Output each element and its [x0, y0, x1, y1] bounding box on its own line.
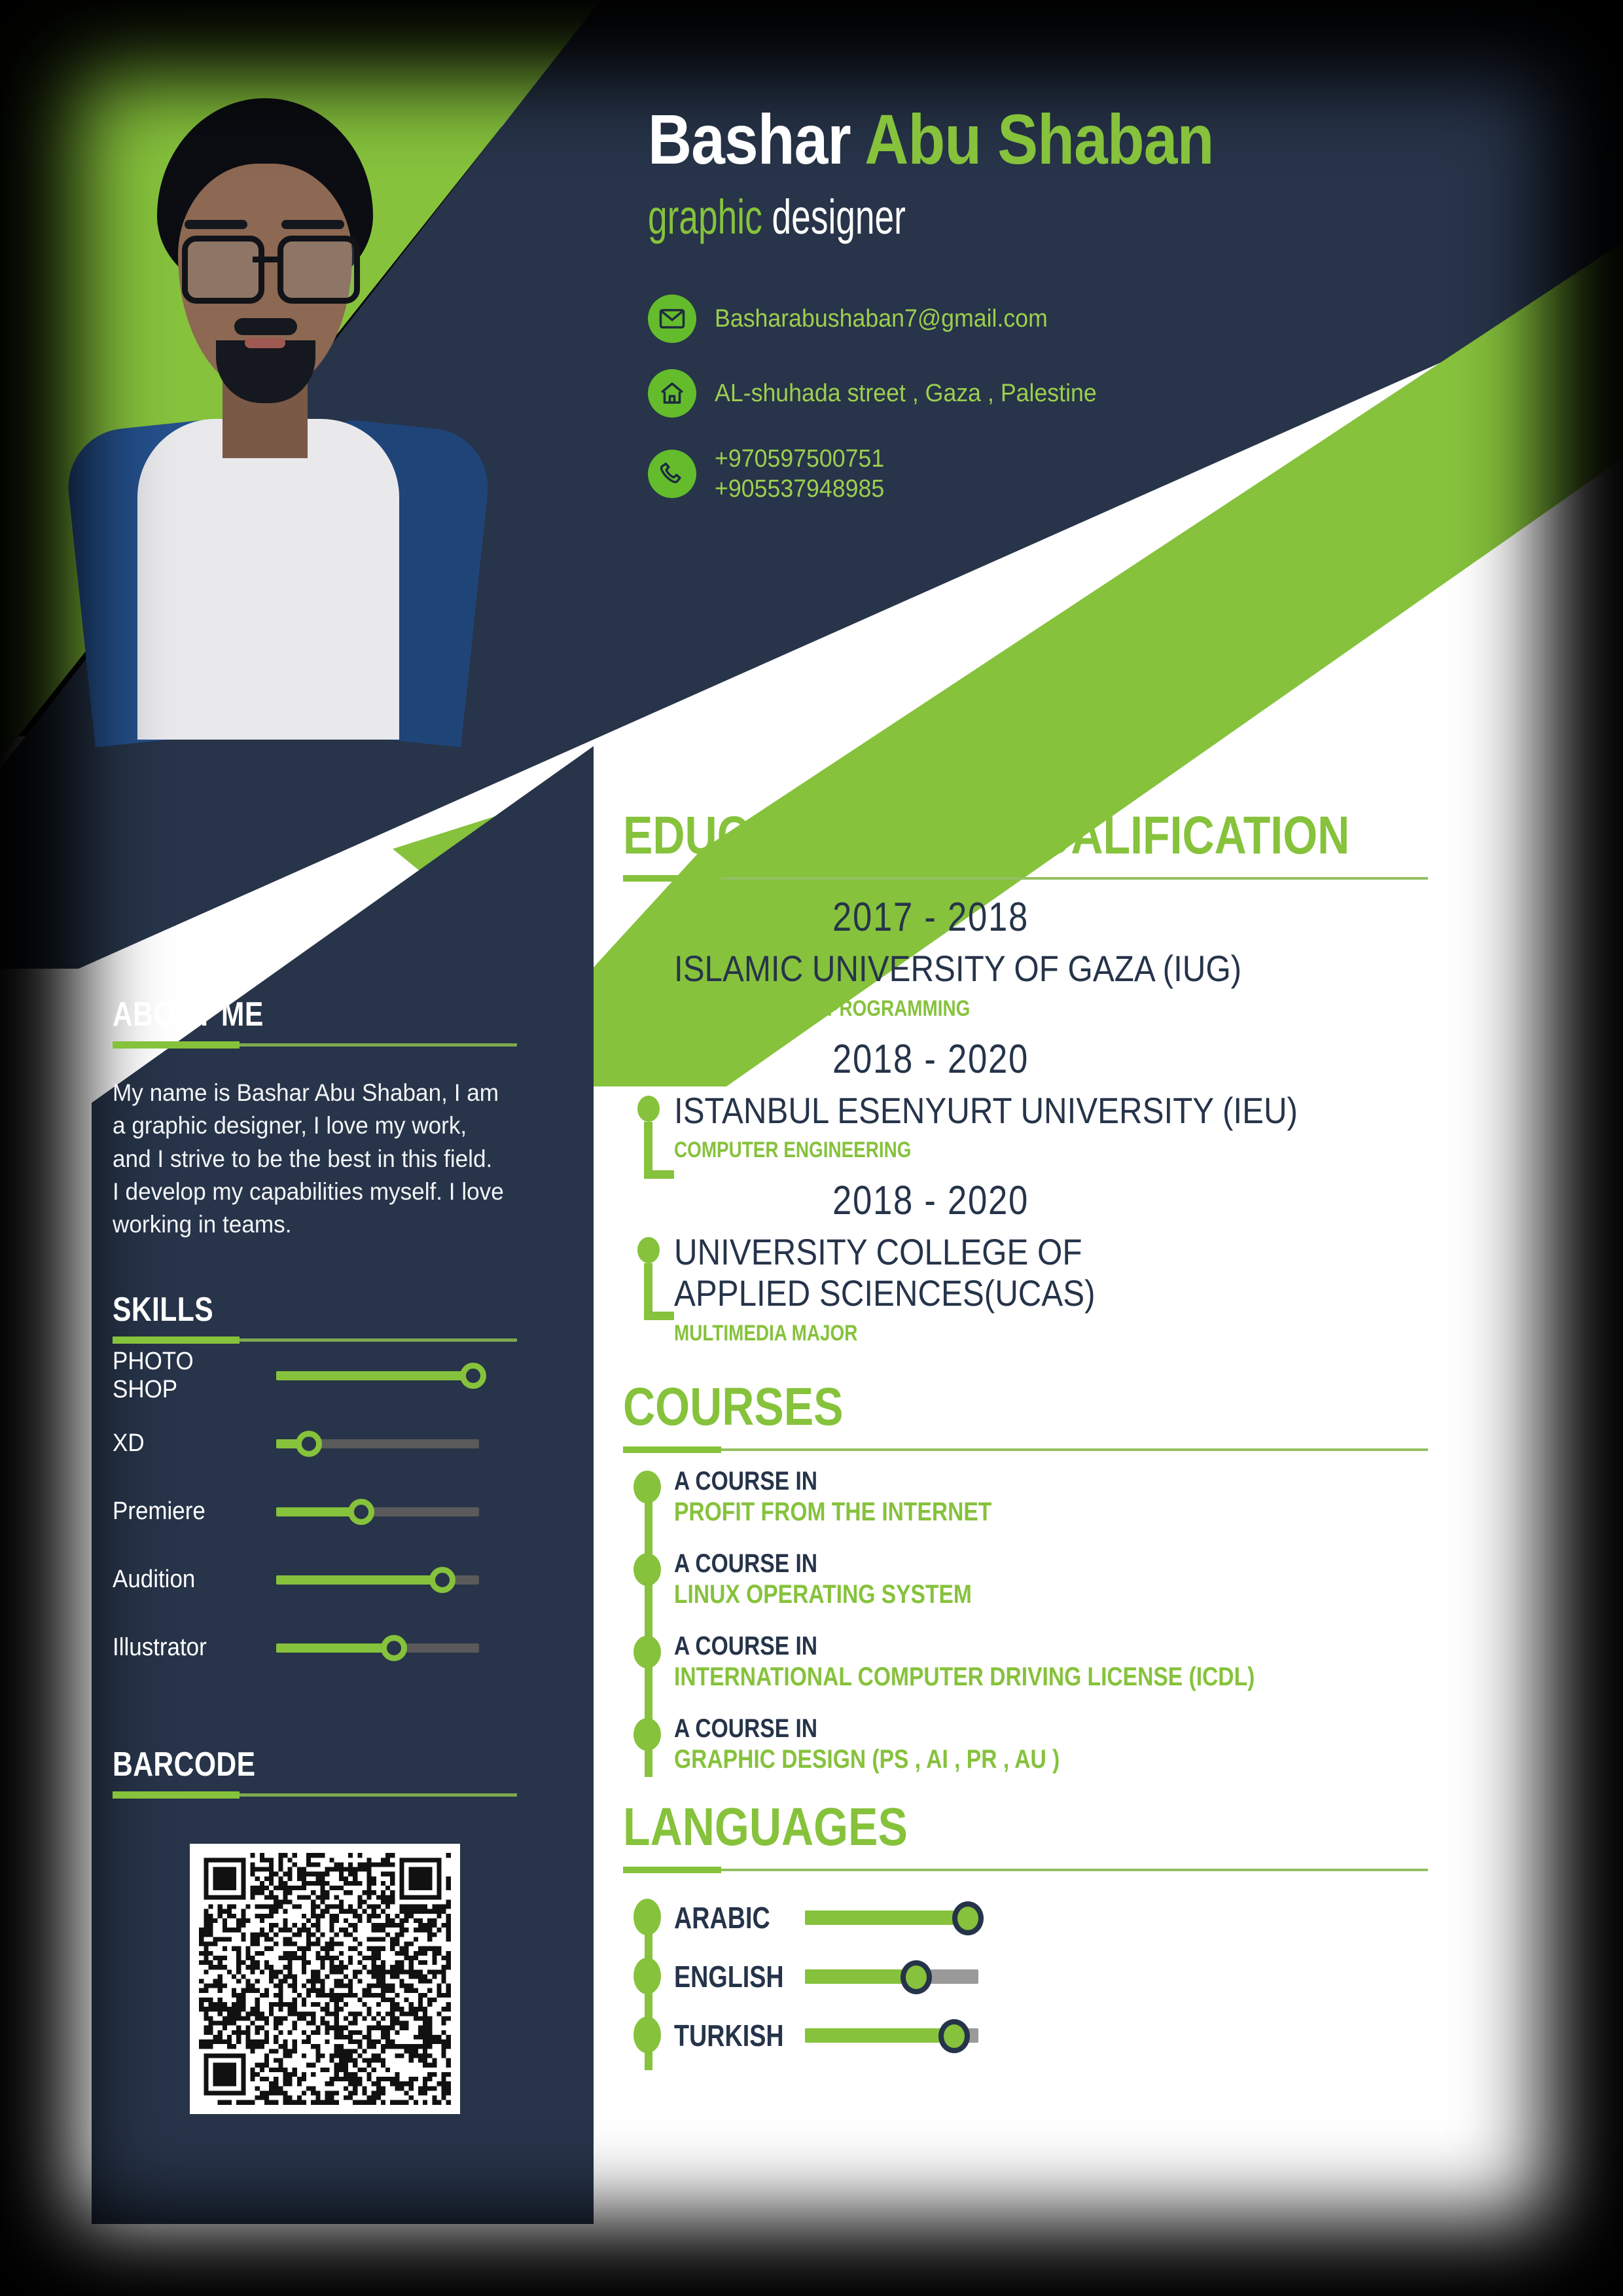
qr-code[interactable]: [190, 1844, 460, 2114]
language-slider[interactable]: [805, 1969, 978, 1984]
skill-row: Premiere: [113, 1478, 571, 1546]
language-label: TURKISH: [674, 2018, 781, 2053]
name-block: Bashar Abu Shaban graphic designer: [648, 98, 1306, 245]
about-section: ABOUT ME My name is Bashar Abu Shaban, I…: [113, 995, 571, 1242]
language-bullet-icon: [633, 2017, 661, 2053]
skill-slider-knob[interactable]: [348, 1499, 374, 1525]
language-slider[interactable]: [805, 2028, 978, 2043]
course-item: A COURSE INLINUX OPERATING SYSTEM: [674, 1549, 1493, 1609]
courses-divider: [623, 1448, 1428, 1451]
course-name: GRAPHIC DESIGN (PS , AI , PR , AU ): [674, 1745, 1363, 1774]
skill-label: Illustrator: [113, 1634, 263, 1662]
language-row: ENGLISH: [674, 1947, 1493, 2006]
skill-label: XD: [113, 1429, 263, 1458]
skill-row: Illustrator: [113, 1614, 571, 1682]
education-heading: EDUCATION AND QUALIFICATION: [623, 805, 1346, 867]
skill-slider-knob[interactable]: [460, 1363, 486, 1389]
barcode-divider: [113, 1793, 517, 1797]
barcode-section: BARCODE: [113, 1745, 571, 2114]
skills-divider: [113, 1338, 517, 1342]
home-icon: [648, 369, 696, 418]
skill-label: Premiere: [113, 1498, 263, 1526]
language-slider-knob[interactable]: [938, 2019, 970, 2053]
languages-divider: [623, 1869, 1428, 1871]
education-school: UNIVERSITY COLLEGE OF APPLIED SCIENCES(U…: [674, 1232, 1395, 1314]
sidebar-content: ABOUT ME My name is Bashar Abu Shaban, I…: [113, 995, 571, 2114]
skill-slider-fill: [276, 1643, 394, 1653]
skill-slider[interactable]: [276, 1643, 479, 1653]
education-section: EDUCATION AND QUALIFICATION 2017 - 2018I…: [623, 805, 1493, 1346]
language-slider-fill: [805, 1910, 968, 1925]
course-bullet-icon: [633, 1718, 661, 1751]
main-column: EDUCATION AND QUALIFICATION 2017 - 2018I…: [623, 805, 1493, 2065]
language-slider-knob[interactable]: [901, 1960, 932, 1994]
education-major: IN THE FIELD OF PROGRAMMING: [674, 996, 1346, 1022]
contact-row-phone[interactable]: +970597500751 +905537948985: [648, 444, 1121, 505]
page-title: Bashar Abu Shaban: [648, 98, 1213, 180]
education-list: 2017 - 2018ISLAMIC UNIVERSITY OF GAZA (I…: [623, 894, 1493, 1346]
education-major: MULTIMEDIA MAJOR: [674, 1321, 1346, 1346]
contact-phone: +970597500751 +905537948985: [715, 444, 884, 505]
skill-label: PHOTO SHOP: [113, 1348, 263, 1404]
education-years: 2017 - 2018: [669, 894, 1192, 941]
language-slider-knob[interactable]: [952, 1901, 984, 1935]
skill-slider-knob[interactable]: [296, 1431, 322, 1457]
skill-slider[interactable]: [276, 1507, 479, 1516]
contact-row-email[interactable]: Basharabushaban7@gmail.com: [648, 295, 1121, 343]
education-years: 2018 - 2020: [669, 1036, 1192, 1083]
skill-slider-fill: [276, 1371, 473, 1380]
course-prefix: A COURSE IN: [674, 1632, 1363, 1661]
languages-section: LANGUAGES ARABICENGLISHTURKISH: [623, 1797, 1493, 2065]
language-row: ARABIC: [674, 1888, 1493, 1947]
contact-list: Basharabushaban7@gmail.com AL-shuhada st…: [648, 295, 1121, 531]
course-name: LINUX OPERATING SYSTEM: [674, 1580, 1363, 1609]
education-major: COMPUTER ENGINEERING: [674, 1138, 1346, 1163]
language-label: ARABIC: [674, 1900, 781, 1935]
about-body: My name is Bashar Abu Shaban, I am a gra…: [113, 1077, 548, 1242]
course-prefix: A COURSE IN: [674, 1549, 1363, 1579]
skills-section: SKILLS PHOTO SHOPXDPremiereAuditionIllus…: [113, 1290, 571, 1682]
education-bracket-icon: [637, 954, 660, 1037]
course-list: A COURSE INPROFIT FROM THE INTERNETA COU…: [623, 1467, 1493, 1774]
education-body: ISTANBUL ESENYURT UNIVERSITY (IEU)COMPUT…: [623, 1090, 1493, 1164]
barcode-heading: BARCODE: [113, 1745, 488, 1784]
skill-slider[interactable]: [276, 1575, 479, 1585]
course-bullet-icon: [633, 1553, 661, 1586]
skill-slider-fill: [276, 1575, 442, 1585]
education-school: ISTANBUL ESENYURT UNIVERSITY (IEU): [674, 1090, 1395, 1132]
languages-heading: LANGUAGES: [623, 1797, 1346, 1858]
course-name: PROFIT FROM THE INTERNET: [674, 1498, 1363, 1527]
language-bullet-icon: [633, 1958, 661, 1994]
job-title-accent: graphic: [648, 190, 772, 244]
phone-icon: [648, 450, 696, 498]
course-prefix: A COURSE IN: [674, 1467, 1363, 1496]
skill-row: Audition: [113, 1546, 571, 1614]
education-divider: [623, 877, 1428, 880]
about-divider: [113, 1043, 517, 1047]
course-item: A COURSE INGRAPHIC DESIGN (PS , AI , PR …: [674, 1714, 1493, 1774]
contact-email: Basharabushaban7@gmail.com: [715, 304, 1048, 334]
education-bracket-icon: [637, 1096, 660, 1179]
job-title-rest: designer: [772, 190, 906, 244]
profile-photo: [0, 0, 502, 736]
resume-page: Bashar Abu Shaban graphic designer Basha…: [0, 0, 1623, 2296]
language-slider-fill: [805, 1969, 916, 1984]
course-item: A COURSE INPROFIT FROM THE INTERNET: [674, 1467, 1493, 1527]
education-entry: 2017 - 2018ISLAMIC UNIVERSITY OF GAZA (I…: [623, 894, 1493, 1022]
skill-list: PHOTO SHOPXDPremiereAuditionIllustrator: [113, 1342, 571, 1682]
language-row: TURKISH: [674, 2006, 1493, 2065]
education-school: ISLAMIC UNIVERSITY OF GAZA (IUG): [674, 948, 1395, 990]
qr-code-canvas: [190, 1844, 460, 2114]
skill-slider-knob[interactable]: [429, 1567, 455, 1593]
course-item: A COURSE ININTERNATIONAL COMPUTER DRIVIN…: [674, 1632, 1493, 1692]
education-body: ISLAMIC UNIVERSITY OF GAZA (IUG)IN THE F…: [623, 948, 1493, 1022]
education-bracket-icon: [637, 1237, 660, 1320]
skill-row: PHOTO SHOP: [113, 1342, 571, 1410]
first-name: Bashar: [648, 99, 865, 179]
last-name: Abu Shaban: [865, 99, 1213, 179]
skill-label: Audition: [113, 1566, 263, 1594]
course-bullet-icon: [633, 1636, 661, 1668]
skill-slider[interactable]: [276, 1371, 479, 1380]
about-heading: ABOUT ME: [113, 995, 488, 1034]
language-slider-fill: [805, 2028, 954, 2043]
skill-slider-knob[interactable]: [381, 1635, 407, 1661]
skills-heading: SKILLS: [113, 1290, 488, 1329]
job-title: graphic designer: [648, 189, 1122, 245]
course-prefix: A COURSE IN: [674, 1714, 1363, 1744]
contact-row-address[interactable]: AL-shuhada street , Gaza , Palestine: [648, 369, 1121, 418]
language-bullet-icon: [633, 1899, 661, 1935]
language-list: ARABICENGLISHTURKISH: [623, 1888, 1493, 2065]
education-years: 2018 - 2020: [669, 1177, 1192, 1224]
education-entry: 2018 - 2020UNIVERSITY COLLEGE OF APPLIED…: [623, 1177, 1493, 1346]
course-bullet-icon: [633, 1471, 661, 1503]
course-name: INTERNATIONAL COMPUTER DRIVING LICENSE (…: [674, 1662, 1363, 1692]
education-body: UNIVERSITY COLLEGE OF APPLIED SCIENCES(U…: [623, 1232, 1493, 1346]
language-label: ENGLISH: [674, 1959, 781, 1994]
education-entry: 2018 - 2020ISTANBUL ESENYURT UNIVERSITY …: [623, 1036, 1493, 1164]
envelope-icon: [648, 295, 696, 343]
skill-slider[interactable]: [276, 1439, 479, 1448]
photo-vignette: [0, 0, 502, 736]
courses-heading: COURSES: [623, 1376, 1346, 1438]
contact-address: AL-shuhada street , Gaza , Palestine: [715, 378, 1097, 408]
skill-row: XD: [113, 1410, 571, 1478]
language-slider[interactable]: [805, 1910, 978, 1925]
courses-section: COURSES A COURSE INPROFIT FROM THE INTER…: [623, 1376, 1493, 1774]
